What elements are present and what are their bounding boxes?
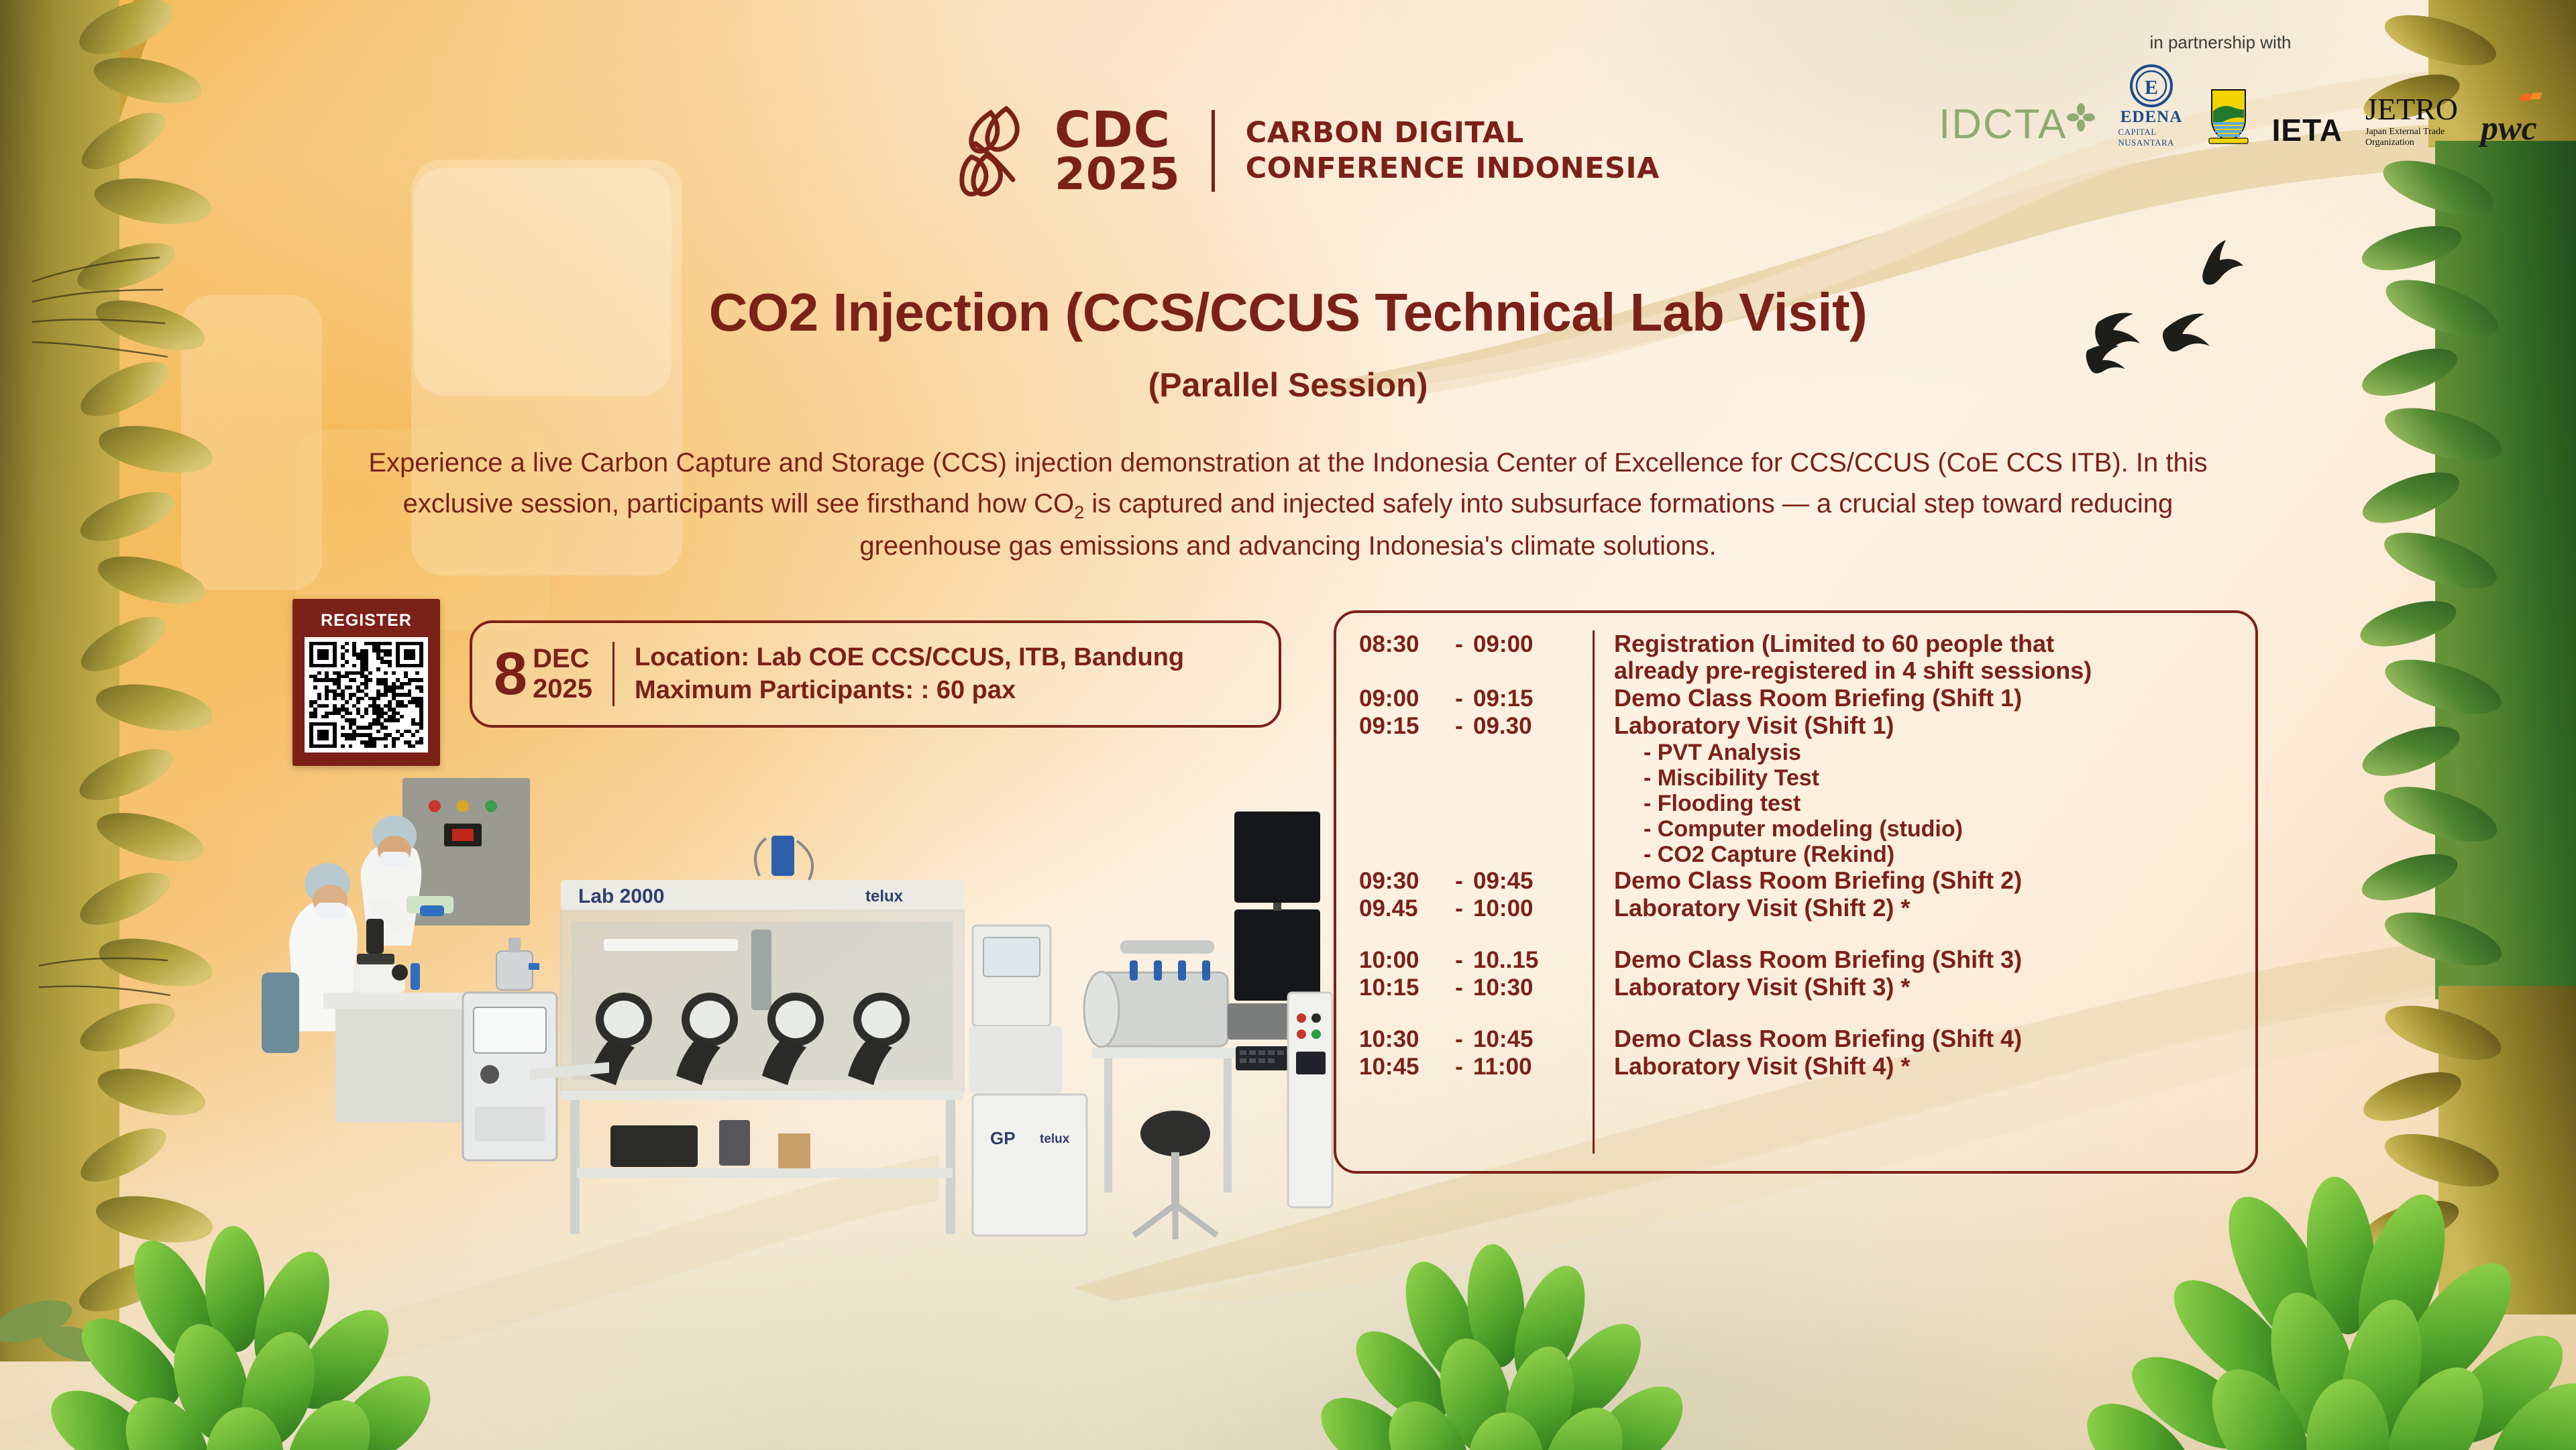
schedule-start: 09:30 bbox=[1359, 868, 1445, 895]
schedule-end: 10:45 bbox=[1473, 1026, 1567, 1053]
cdc-leaf-logo-icon bbox=[959, 101, 1040, 201]
lab-model-label: Lab 2000 bbox=[578, 885, 664, 907]
schedule-end: 09:45 bbox=[1473, 868, 1567, 895]
schedule-description: - Miscibility Test bbox=[1594, 765, 2233, 791]
svg-text:telux: telux bbox=[1040, 1132, 1070, 1146]
page-subtitle: (Parallel Session) bbox=[0, 366, 2576, 404]
partner-logo-idcta: IDCTA bbox=[1939, 101, 2095, 148]
schedule-dash: - bbox=[1445, 1054, 1473, 1080]
schedule-time bbox=[1359, 765, 1594, 766]
schedule-time: 09:15-09.30 bbox=[1359, 712, 1594, 740]
schedule-row: 09:30-09:45Demo Class Room Briefing (Shi… bbox=[1359, 867, 2233, 895]
partners-label: in partnership with bbox=[1939, 32, 2502, 53]
schedule-row: - PVT Analysis bbox=[1359, 740, 2233, 765]
idcta-flower-icon bbox=[2067, 103, 2095, 131]
schedule-dash: - bbox=[1445, 631, 1473, 658]
partner-logo-bandung-crest bbox=[2208, 87, 2249, 148]
event-participants: Maximum Participants: : 60 pax bbox=[635, 674, 1184, 707]
schedule-end: 10..15 bbox=[1473, 947, 1567, 974]
event-day: 8 bbox=[494, 649, 527, 700]
schedule-row: 09:15-09.30Laboratory Visit (Shift 1) bbox=[1359, 712, 2233, 740]
schedule-row: 10:45-11:00Laboratory Visit (Shift 4) * bbox=[1359, 1053, 2233, 1080]
schedule-description: Laboratory Visit (Shift 1) bbox=[1594, 712, 2233, 739]
qr-code-icon[interactable] bbox=[305, 637, 428, 752]
schedule-spacer bbox=[1359, 922, 2233, 946]
schedule-description: Demo Class Room Briefing (Shift 2) bbox=[1594, 867, 2233, 894]
schedule-row: - Computer modeling (studio) bbox=[1359, 816, 2233, 842]
foliage-left-decoration bbox=[0, 0, 213, 1361]
schedule-start: 09:15 bbox=[1359, 713, 1445, 740]
schedule-description: - CO2 Capture (Rekind) bbox=[1594, 842, 2233, 867]
schedule-panel: 08:30-09:00Registration (Limited to 60 p… bbox=[1334, 610, 2258, 1174]
schedule-column-divider bbox=[1593, 630, 1595, 1154]
event-description: Experience a live Carbon Capture and Sto… bbox=[335, 443, 2241, 567]
schedule-row: - Flooding test bbox=[1359, 791, 2233, 816]
schedule-description: Demo Class Room Briefing (Shift 4) bbox=[1594, 1025, 2233, 1052]
qr-code-grid bbox=[309, 642, 423, 748]
jetro-sublabel: Japan External Trade Organization bbox=[2365, 127, 2458, 148]
schedule-row: 08:30-09:00Registration (Limited to 60 p… bbox=[1359, 630, 2233, 685]
schedule-dash: - bbox=[1445, 974, 1473, 1001]
event-month: DEC bbox=[533, 644, 592, 674]
footer: Carbon Digital Conference Indonesia Orga… bbox=[0, 1296, 2576, 1450]
schedule-row: 10:30-10:45Demo Class Room Briefing (Shi… bbox=[1359, 1025, 2233, 1053]
bandung-city-crest-icon bbox=[2208, 87, 2249, 145]
schedule-dash: - bbox=[1445, 1026, 1473, 1053]
lab-equipment-photo: Lab 2000 telux GP telux bbox=[530, 771, 1335, 1241]
register-label: REGISTER bbox=[305, 611, 428, 630]
schedule-time: 09:30-09:45 bbox=[1359, 867, 1594, 895]
cdc-acronym: CDC bbox=[1055, 107, 1181, 153]
cdc-logo: CDC 2025 CARBON DIGITAL CONFERENCE INDON… bbox=[959, 101, 1660, 201]
schedule-time: 09:00-09:15 bbox=[1359, 685, 1594, 712]
lab-brand-label: telux bbox=[865, 887, 904, 905]
edena-emblem-icon: E bbox=[2129, 64, 2173, 108]
schedule-description: Laboratory Visit (Shift 3) * bbox=[1594, 974, 2233, 1001]
schedule-dash: - bbox=[1445, 713, 1473, 740]
brand-line-2: CONFERENCE INDONESIA bbox=[1246, 151, 1660, 186]
schedule-end: 10:30 bbox=[1473, 974, 1567, 1001]
schedule-spacer bbox=[1359, 1001, 2233, 1025]
schedule-start: 10:30 bbox=[1359, 1026, 1445, 1053]
pwc-wordmark: pwc bbox=[2481, 109, 2542, 148]
event-location: Location: Lab COE CCS/CCUS, ITB, Bandung bbox=[635, 641, 1184, 674]
schedule-end: 09:15 bbox=[1473, 685, 1567, 712]
logo-divider bbox=[1212, 110, 1215, 192]
lab-unit-label: GP bbox=[990, 1128, 1016, 1148]
schedule-time: 10:30-10:45 bbox=[1359, 1025, 1594, 1053]
schedule-time bbox=[1359, 740, 1594, 740]
schedule-row: 09:00-09:15Demo Class Room Briefing (Shi… bbox=[1359, 685, 2233, 712]
schedule-time: 08:30-09:00 bbox=[1359, 630, 1594, 658]
description-subscript: 2 bbox=[1074, 502, 1084, 522]
schedule-dash: - bbox=[1445, 895, 1473, 922]
schedule-description: Laboratory Visit (Shift 2) * bbox=[1594, 895, 2233, 922]
schedule-start: 10:45 bbox=[1359, 1054, 1445, 1080]
schedule-end: 10:00 bbox=[1473, 895, 1567, 922]
schedule-description: - PVT Analysis bbox=[1594, 740, 2233, 765]
schedule-end: 09:00 bbox=[1473, 631, 1567, 658]
partner-logo-edena: E EDENA CAPITAL NUSANTARA bbox=[2118, 64, 2184, 148]
event-date-location-box: 8 DEC 2025 Location: Lab COE CCS/CCUS, I… bbox=[470, 620, 1281, 728]
register-qr-block[interactable]: REGISTER bbox=[292, 599, 440, 766]
edena-name: EDENA bbox=[2121, 108, 2183, 127]
schedule-end: 11:00 bbox=[1473, 1054, 1567, 1080]
event-year: 2025 bbox=[533, 674, 592, 704]
lab-scientists-photo bbox=[262, 771, 570, 1174]
svg-text:E: E bbox=[2145, 76, 2158, 99]
schedule-row: - CO2 Capture (Rekind) bbox=[1359, 842, 2233, 867]
pwc-mark-icon bbox=[2495, 91, 2542, 109]
schedule-start: 09.45 bbox=[1359, 895, 1445, 922]
brand-line-1: CARBON DIGITAL bbox=[1246, 115, 1660, 151]
schedule-time: 10:15-10:30 bbox=[1359, 974, 1594, 1001]
schedule-description: Demo Class Room Briefing (Shift 3) bbox=[1594, 946, 2233, 973]
partner-logo-ieta: IETA bbox=[2272, 112, 2343, 148]
edena-sublabel: CAPITAL NUSANTARA bbox=[2118, 127, 2184, 148]
page-title: CO2 Injection (CCS/CCUS Technical Lab Vi… bbox=[0, 282, 2576, 343]
schedule-row: 10:15-10:30Laboratory Visit (Shift 3) * bbox=[1359, 974, 2233, 1001]
schedule-start: 10:00 bbox=[1359, 947, 1445, 974]
partner-logo-pwc: pwc bbox=[2481, 91, 2542, 148]
schedule-row: 09.45-10:00Laboratory Visit (Shift 2) * bbox=[1359, 895, 2233, 922]
jetro-name: JETRO bbox=[2365, 91, 2458, 127]
partners-section: in partnership with IDCTA E EDENA CAPITA… bbox=[1939, 32, 2542, 148]
schedule-description: Registration (Limited to 60 people thata… bbox=[1594, 630, 2233, 685]
partners-row: IDCTA E EDENA CAPITAL NUSANTARA bbox=[1939, 64, 2542, 148]
schedule-row: 10:00-10..15Demo Class Room Briefing (Sh… bbox=[1359, 946, 2233, 974]
schedule-time bbox=[1359, 791, 1594, 791]
schedule-description: - Flooding test bbox=[1594, 791, 2233, 816]
schedule-time: 09.45-10:00 bbox=[1359, 895, 1594, 922]
schedule-dash: - bbox=[1445, 947, 1473, 974]
schedule-end: 09.30 bbox=[1473, 713, 1567, 740]
schedule-time: 10:45-11:00 bbox=[1359, 1053, 1594, 1080]
cdc-year: 2025 bbox=[1055, 154, 1181, 195]
schedule-start: 08:30 bbox=[1359, 631, 1445, 658]
schedule-dash: - bbox=[1445, 868, 1473, 895]
schedule-row: - Miscibility Test bbox=[1359, 765, 2233, 791]
schedule-time: 10:00-10..15 bbox=[1359, 946, 1594, 974]
schedule-rows: 08:30-09:00Registration (Limited to 60 p… bbox=[1359, 630, 2233, 1080]
date-divider bbox=[612, 642, 614, 706]
schedule-description: Laboratory Visit (Shift 4) * bbox=[1594, 1053, 2233, 1080]
schedule-time bbox=[1359, 816, 1594, 817]
schedule-time bbox=[1359, 842, 1594, 842]
schedule-dash: - bbox=[1445, 685, 1473, 712]
partner-logo-jetro: JETRO Japan External Trade Organization bbox=[2365, 91, 2458, 148]
schedule-description: Demo Class Room Briefing (Shift 1) bbox=[1594, 685, 2233, 712]
schedule-start: 09:00 bbox=[1359, 685, 1445, 712]
schedule-description: - Computer modeling (studio) bbox=[1594, 816, 2233, 842]
schedule-start: 10:15 bbox=[1359, 974, 1445, 1001]
